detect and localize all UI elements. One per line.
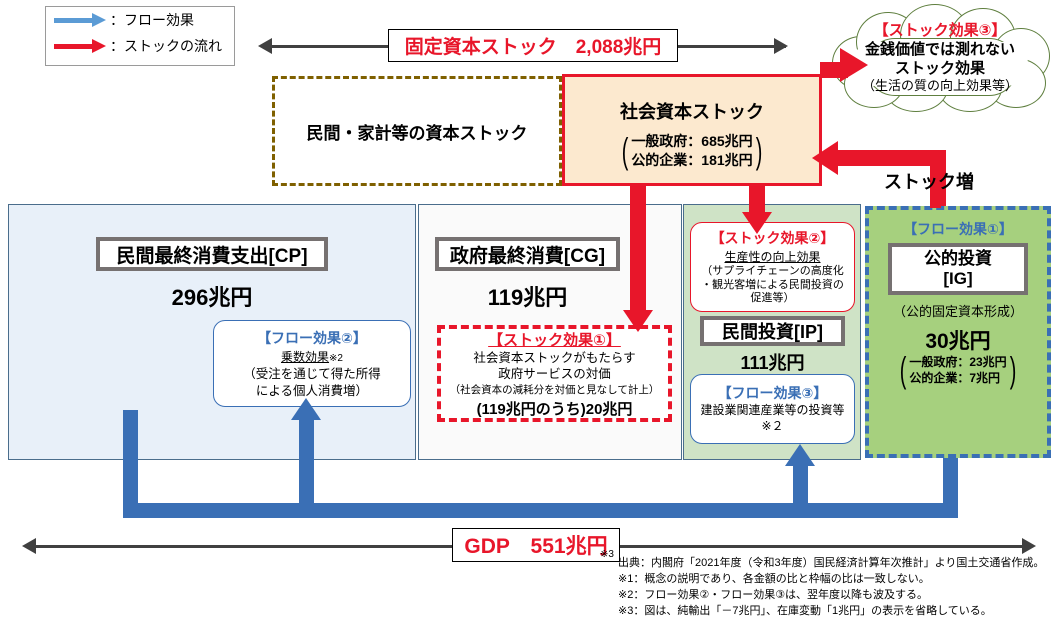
stock-increase-horizontal-shaft — [838, 150, 938, 166]
footnote-3: ※3：図は、純輸出「－7兆円」、在庫変動「1兆円」の表示を省略している。 — [618, 604, 1048, 620]
red-arrow-to-ip-head — [742, 212, 772, 234]
fe3-heading: 【フロー効果③】 — [718, 383, 828, 403]
blue-arrow-to-ip-shaft — [793, 460, 808, 510]
top-measure-arrow-right — [774, 38, 788, 54]
se1-small: （社会資本の減耗分を対価と見なして計上） — [450, 382, 660, 397]
blue-arrow-to-ip-head — [785, 444, 815, 466]
stock-effect-2-callout: 【ストック効果②】 生産性の向上効果 （サプライチェーンの高度化 ・観光客増によ… — [690, 222, 855, 312]
social-capital-stock-title: 社会資本ストック — [620, 98, 764, 124]
ig-paren-right: ) — [1009, 356, 1016, 385]
paren-right: ) — [755, 137, 762, 166]
cg-amount: 119兆円 — [435, 282, 620, 310]
stock-effect-1-callout: 【ストック効果①】 社会資本ストックがもたらす 政府サービスの対価 （社会資本の… — [437, 325, 672, 422]
private-capital-stock-box: 民間・家計等の資本ストック — [272, 76, 562, 186]
cloud-line1: 金銭価値では測れない — [834, 41, 1046, 60]
blue-bus-vertical-left — [123, 410, 138, 510]
ip-amount: 111兆円 — [700, 350, 845, 374]
ig-amount: 30兆円 — [870, 326, 1046, 354]
stock-increase-label: ストック増 — [884, 168, 974, 194]
fe2-heading: 【フロー効果②】 — [257, 328, 367, 348]
legend-item-flow: ：フロー効果 — [46, 7, 234, 33]
stock-effect-3-cloud: 【ストック効果③】 金銭価値では測れない ストック効果 （生活の質の向上効果等） — [826, 2, 1054, 112]
ig-line-2: 公的企業：7兆円 — [909, 371, 1006, 387]
legend-label-flow: ：フロー効果 — [110, 10, 194, 30]
footnote-2: ※2：フロー効果②・フロー効果③は、翌年度以降も波及する。 — [618, 588, 1048, 604]
footnote-1: ※1：概念の説明であり、各金額の比と枠幅の比は一致しない。 — [618, 572, 1048, 588]
social-capital-stock-box: 社会資本ストック ( 一般政府：685兆円 公的企業：181兆円 ) — [562, 74, 822, 186]
se2-body-2: ・観光客増による民間投資の — [701, 279, 844, 293]
legend: ：フロー効果 ：ストックの流れ — [45, 6, 235, 66]
flow-effect-2-callout: 【フロー効果②】 乗数効果※2 （受注を通じて得た所得 による個人消費増） — [213, 320, 411, 407]
ig-header: 公的投資 [IG] — [888, 243, 1028, 295]
social-capital-line-1: 一般政府：685兆円 — [631, 132, 752, 151]
fe2-body-2: による個人消費増） — [256, 383, 368, 399]
legend-item-stock: ：ストックの流れ — [46, 33, 234, 59]
red-arrow-icon — [54, 41, 108, 51]
se2-body-3: 促進等） — [751, 292, 795, 306]
fe2-underline: 乗数効果 — [281, 350, 329, 364]
ip-header: 民間投資[IP] — [700, 316, 845, 346]
red-stub-ig-top — [930, 196, 941, 208]
cloud-line2: ストック効果 — [834, 60, 1046, 79]
se1-heading: 【ストック効果①】 — [488, 329, 621, 350]
ig-line-1: 一般政府：23兆円 — [909, 355, 1006, 371]
fixed-capital-stock-label: 固定資本ストック 2,088兆円 — [388, 29, 678, 62]
fe2-body-1: （受注を通じて得た所得 — [243, 366, 381, 382]
cloud-text: 【ストック効果③】 金銭価値では測れない ストック効果 （生活の質の向上効果等） — [834, 22, 1046, 95]
cp-header: 民間最終消費支出[CP] — [96, 237, 328, 271]
gdp-note-mark: ※3 — [600, 549, 614, 560]
cg-header: 政府最終消費[CG] — [435, 237, 620, 271]
stock-increase-arrow-head — [812, 141, 838, 175]
se2-heading: 【ストック効果②】 — [711, 228, 835, 248]
footnotes: 出典：内閣府「2021年度（令和3年度）国民経済計算年次推計」より国土交通省作成… — [618, 556, 1048, 620]
fe3-body-2: ※２ — [761, 419, 783, 435]
cloud-line3: （生活の質の向上効果等） — [834, 78, 1046, 94]
ig-header-line2: [IG] — [943, 269, 972, 289]
social-capital-stock-breakdown: ( 一般政府：685兆円 公的企業：181兆円 ) — [619, 132, 764, 170]
flow-effect-3-callout: 【フロー効果③】 建設業関連産業等の投資等 ※２ — [690, 374, 855, 444]
cloud-heading: 【ストック効果③】 — [834, 22, 1046, 41]
ig-header-line1: 公的投資 — [924, 249, 992, 269]
gdp-arrow-right — [1022, 538, 1036, 554]
blue-bus-horizontal — [123, 503, 958, 518]
paren-left: ( — [622, 137, 629, 166]
blue-arrow-to-cp-head — [291, 398, 321, 420]
cp-amount: 296兆円 — [96, 282, 328, 310]
se1-amount: (119兆円のうち)20兆円 — [477, 398, 633, 419]
ig-flow-tag: 【フロー効果①】 — [870, 218, 1046, 240]
legend-label-stock: ：ストックの流れ — [110, 36, 222, 56]
fe2-sup: ※2 — [329, 353, 343, 364]
red-arrow-to-cg-shaft — [630, 186, 646, 314]
ig-subtitle: （公的固定資本形成） — [870, 300, 1046, 320]
blue-arrow-to-cp-shaft — [299, 415, 314, 510]
fe3-body-1: 建設業関連産業等の投資等 — [700, 403, 844, 419]
ig-breakdown: ( 一般政府：23兆円 公的企業：7兆円 ) — [870, 355, 1046, 386]
blue-arrow-icon — [54, 15, 108, 25]
se1-body-2: 政府サービスの対価 — [498, 366, 611, 382]
se2-body-1: （サプライチェーンの高度化 — [701, 265, 843, 279]
gdp-label: GDP 551兆円 — [452, 528, 620, 562]
footnote-source: 出典：内閣府「2021年度（令和3年度）国民経済計算年次推計」より国土交通省作成… — [618, 556, 1048, 572]
se1-body-1: 社会資本ストックがもたらす — [473, 350, 635, 366]
red-arrow-to-cg-head — [623, 310, 653, 332]
social-capital-line-2: 公的企業：181兆円 — [631, 151, 752, 170]
se2-underline: 生産性の向上効果 — [724, 248, 820, 265]
ig-paren-left: ( — [900, 356, 907, 385]
